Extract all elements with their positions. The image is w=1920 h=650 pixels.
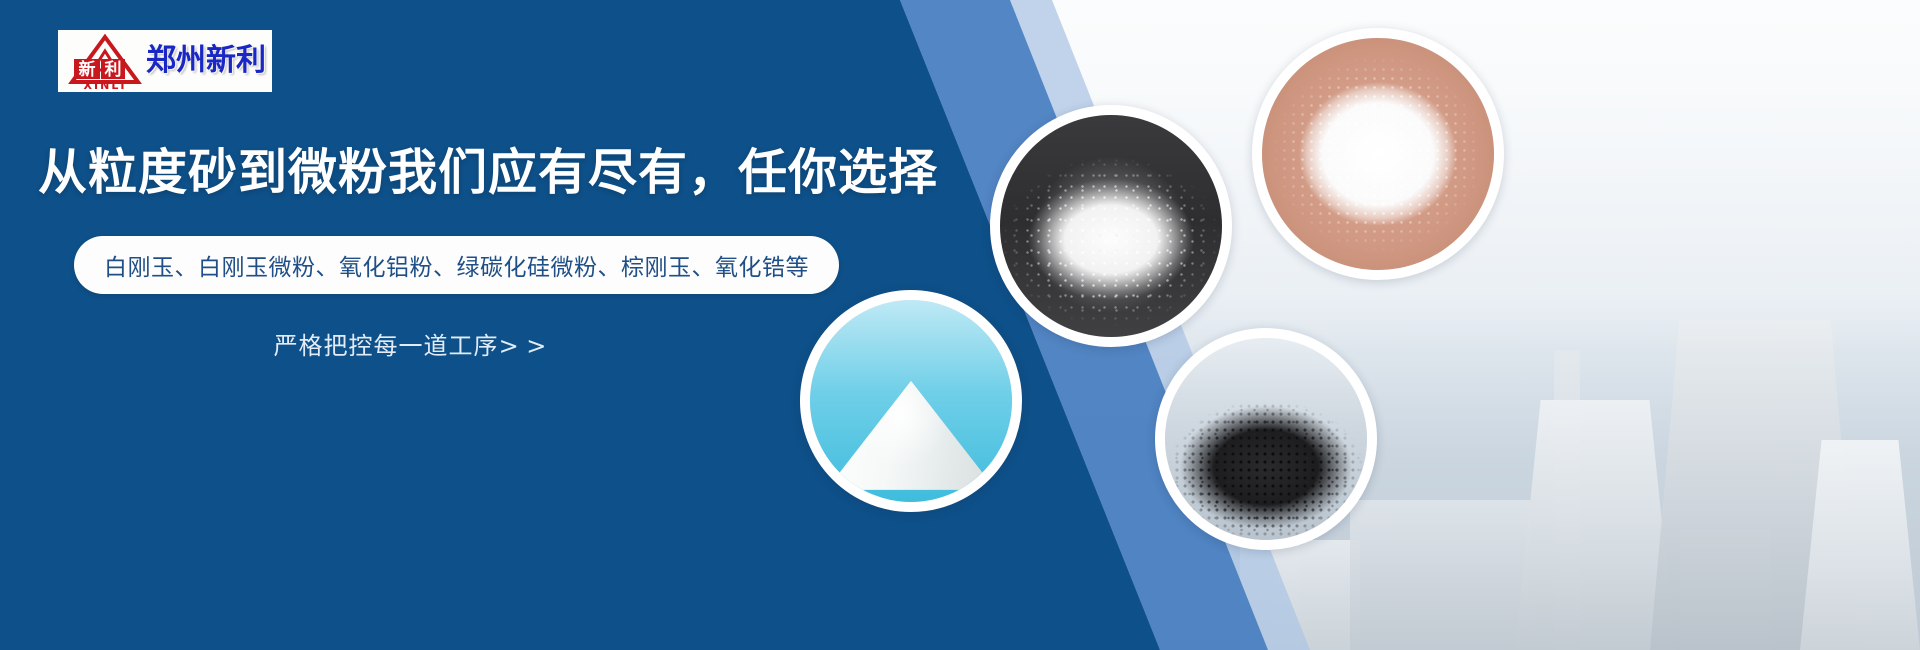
svg-text:XINLI: XINLI <box>84 79 127 90</box>
grit-texture <box>1000 115 1222 337</box>
headline: 从粒度砂到微粉我们应有尽有，任你选择 <box>38 146 938 200</box>
chevron-right-icon: > > <box>499 332 547 360</box>
product-photo-black-silicon-carbide <box>1155 328 1377 550</box>
svg-text:新: 新 <box>79 59 96 80</box>
photo-white-fused-alumina-grit <box>1000 115 1222 337</box>
tagline-text: 严格把控每一道工序 <box>274 332 499 360</box>
product-photo-white-micro-powder <box>1252 28 1504 280</box>
banner-content: 新 利 XINLI 郑州新利 从粒度砂到微粉我们应有尽有，任你选择 白刚玉、白刚… <box>0 0 1000 650</box>
xinli-triangle-icon: 新 利 XINLI <box>68 32 142 90</box>
product-list-text: 白刚玉、白刚玉微粉、氧化铝粉、绿碳化硅微粉、棕刚玉、氧化锆等 <box>104 248 809 282</box>
photo-white-micro-powder <box>1262 38 1494 270</box>
photo-black-silicon-carbide <box>1165 338 1367 540</box>
product-list-pill: 白刚玉、白刚玉微粉、氧化铝粉、绿碳化硅微粉、棕刚玉、氧化锆等 <box>74 236 839 294</box>
powder-texture <box>1262 38 1494 270</box>
grain-texture <box>1165 338 1367 540</box>
svg-text:利: 利 <box>105 59 122 80</box>
promo-banner: 新 利 XINLI 郑州新利 从粒度砂到微粉我们应有尽有，任你选择 白刚玉、白刚… <box>0 0 1920 650</box>
company-name: 郑州新利 <box>146 46 266 76</box>
company-logo[interactable]: 新 利 XINLI 郑州新利 <box>58 30 272 92</box>
product-photo-white-fused-alumina-grit <box>990 105 1232 347</box>
tagline-link[interactable]: 严格把控每一道工序> > <box>74 326 746 361</box>
